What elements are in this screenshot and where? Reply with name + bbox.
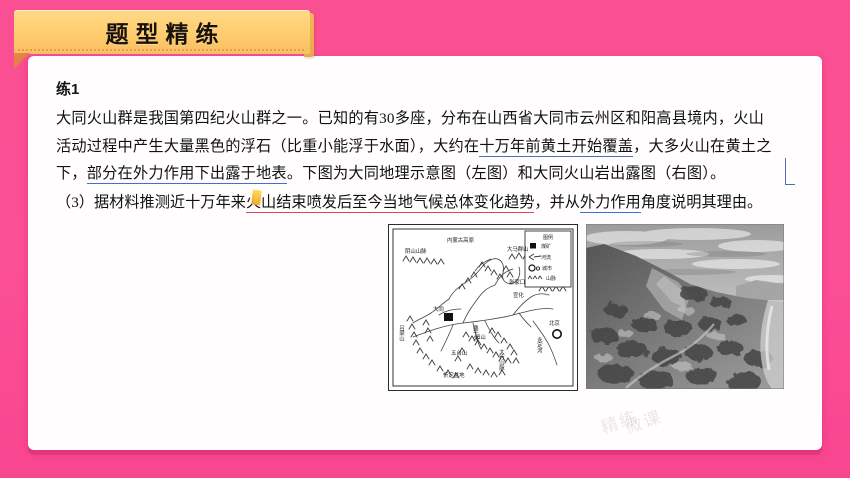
material-text-f: 。下图为大同地理示意图（左图）和大同火山岩出露图（右图） [287, 165, 710, 182]
svg-text:大马群山: 大马群山 [507, 245, 529, 253]
page-root: 练1 大同火山群是我国第四纪火山群之一。已知的有30多座，分布在山西省大同市云州… [0, 0, 850, 478]
question-highlight-volcano: 火山 [246, 194, 276, 213]
svg-text:张家口: 张家口 [509, 278, 525, 286]
svg-text:煤矿: 煤矿 [541, 243, 551, 250]
svg-text:内蒙古高原: 内蒙古高原 [447, 236, 475, 244]
svg-text:五台山: 五台山 [451, 349, 467, 357]
material-line-2: 活动过程中产生大量黑色的浮石（比重小能浮于水面），大约在十万年前黄土开始覆盖，大… [56, 133, 802, 161]
map-symbol-datong-mine [444, 313, 453, 321]
section-header: 题型精练 [14, 10, 314, 56]
svg-text:吕梁山: 吕梁山 [398, 325, 405, 343]
question-seg-1: 据材料推测近十万年来 [94, 194, 246, 211]
exercise-label: 练1 [56, 78, 802, 99]
material-underline-exogenic: 部分在外力作用下出露于地表 [87, 165, 287, 184]
question-seg-6: 角度说明其理由。 [641, 194, 763, 211]
material-text-a: 大同火山群是我国第四纪火山群之一。已知的有30多座，分布在山西省大同市云州区和阳… [56, 110, 733, 127]
svg-text:北京: 北京 [549, 319, 560, 327]
svg-text:河流: 河流 [541, 254, 551, 261]
photo-figure [586, 224, 784, 389]
material-text-e: 下， [56, 165, 87, 182]
figures-row: 图例 煤矿 河流 城市 山脉 [388, 224, 784, 391]
question-seg-4: ，并从 [534, 194, 580, 211]
svg-text:永定河: 永定河 [536, 336, 543, 354]
svg-text:城市: 城市 [542, 265, 552, 272]
svg-text:大同: 大同 [433, 305, 444, 313]
svg-text:太行山脉: 太行山脉 [498, 348, 505, 371]
svg-text:阴山山脉: 阴山山脉 [405, 247, 427, 255]
svg-text:山脉: 山脉 [546, 275, 556, 282]
question-underline-exogenic: 外力作用 [580, 194, 641, 213]
material-line-1: 大同火山群是我国第四纪火山群之一。已知的有30多座，分布在山西省大同市云州区和阳… [56, 105, 802, 133]
annotation-bracket-open [785, 158, 795, 185]
material-text-g: 。 [710, 165, 725, 182]
material-line-3: 下，部分在外力作用下出露于地表。下图为大同地理示意图（左图）和大同火山岩出露图（… [56, 160, 802, 188]
watermark-1: 微课 [621, 403, 665, 439]
svg-text:恒山: 恒山 [475, 333, 486, 341]
material-text-d: ，大多火山在黄土之 [633, 138, 772, 155]
material-paragraph: 大同火山群是我国第四纪火山群之一。已知的有30多座，分布在山西省大同市云州区和阳… [56, 105, 802, 188]
material-underline-tenthousand: 十万年前黄土开始覆盖 [479, 138, 633, 157]
map-legend: 图例 煤矿 河流 城市 山脉 [525, 231, 571, 287]
content-card: 练1 大同火山群是我国第四纪火山群之一。已知的有30多座，分布在山西省大同市云州… [28, 56, 822, 450]
svg-text:图例: 图例 [543, 234, 553, 241]
svg-text:宣化: 宣化 [513, 291, 524, 299]
svg-text:忻定盆地: 忻定盆地 [443, 371, 465, 379]
page-title: 题型精练 [14, 10, 310, 54]
question-number: （3） [56, 194, 94, 211]
question-underline-trend: 结束喷发后至今当地气候总体变化趋势 [276, 194, 534, 213]
question-line: （3）据材料推测近十万年来火山结束喷发后至今当地气候总体变化趋势，并从外力作用角… [56, 189, 802, 217]
map-svg: 图例 煤矿 河流 城市 山脉 [389, 225, 577, 390]
photo-svg [586, 224, 784, 389]
map-figure: 图例 煤矿 河流 城市 山脉 [388, 224, 578, 391]
question-body: 练1 大同火山群是我国第四纪火山群之一。已知的有30多座，分布在山西省大同市云州… [56, 78, 802, 216]
material-text-c: 活动过程中产生大量黑色的浮石（比重小能浮于水面），大约在 [56, 138, 479, 155]
material-text-b: 火山 [733, 110, 764, 127]
